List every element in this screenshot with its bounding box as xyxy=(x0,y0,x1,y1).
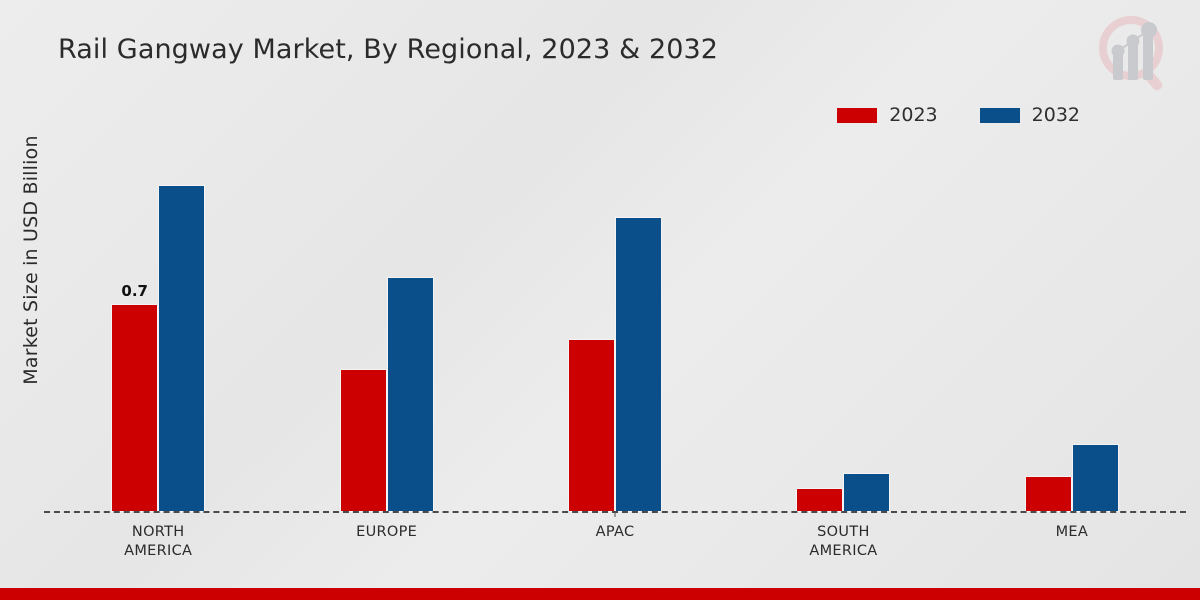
bar-pair xyxy=(1025,140,1119,512)
bar-2023[interactable] xyxy=(568,339,615,512)
legend-swatch-2023 xyxy=(837,108,877,123)
brand-watermark-logo xyxy=(1086,8,1182,100)
bar-group xyxy=(958,140,1186,512)
chart-plot-area: 0.7 xyxy=(44,140,1186,512)
bar-2023[interactable] xyxy=(340,369,387,512)
bar-group xyxy=(729,140,957,512)
x-tick-label-line: EUROPE xyxy=(272,523,500,542)
bar-value-label: 0.7 xyxy=(121,282,148,300)
bar-column xyxy=(615,140,662,512)
footer-accent-bar xyxy=(0,588,1200,600)
bar-2032[interactable] xyxy=(843,473,890,512)
legend-swatch-2032 xyxy=(980,108,1020,123)
chart-figure: Rail Gangway Market, By Regional, 2023 &… xyxy=(0,0,1200,600)
bar-2032[interactable] xyxy=(615,217,662,512)
x-tick-label: APAC xyxy=(501,516,729,580)
x-tick-label-line: AMERICA xyxy=(729,542,957,561)
x-tick-label-line: MEA xyxy=(958,523,1186,542)
chart-title: Rail Gangway Market, By Regional, 2023 &… xyxy=(58,34,718,65)
magnifier-bar-chart-icon xyxy=(1086,8,1182,100)
bar-column xyxy=(568,140,615,512)
x-tick-label-line: NORTH xyxy=(44,523,272,542)
x-tick-label-line: SOUTH xyxy=(729,523,957,542)
x-tick-mark xyxy=(615,512,616,517)
bar-column xyxy=(843,140,890,512)
bar-column xyxy=(1072,140,1119,512)
bar-column xyxy=(387,140,434,512)
bar-pair xyxy=(796,140,890,512)
x-tick-label-line: AMERICA xyxy=(44,542,272,561)
bar-pair xyxy=(568,140,662,512)
y-axis-title: Market Size in USD Billion xyxy=(14,0,48,560)
bar-pair: 0.7 xyxy=(111,140,205,512)
bar-group: 0.7 xyxy=(44,140,272,512)
bar-column xyxy=(340,140,387,512)
bar-column xyxy=(796,140,843,512)
bar-column: 0.7 xyxy=(111,140,158,512)
bar-column xyxy=(1025,140,1072,512)
bar-2023[interactable] xyxy=(1025,476,1072,512)
bar-2032[interactable] xyxy=(158,185,205,512)
bar-pair xyxy=(340,140,434,512)
bar-column xyxy=(158,140,205,512)
bar-2023[interactable] xyxy=(111,304,158,512)
legend-item-2023[interactable]: 2023 xyxy=(837,104,937,126)
x-tick-label: NORTHAMERICA xyxy=(44,516,272,580)
bar-2032[interactable] xyxy=(1072,444,1119,512)
chart-legend: 2023 2032 xyxy=(837,104,1080,126)
x-tick-label: EUROPE xyxy=(272,516,500,580)
legend-label-2032: 2032 xyxy=(1032,104,1080,126)
bar-group xyxy=(501,140,729,512)
x-tick-label: MEA xyxy=(958,516,1186,580)
bar-2032[interactable] xyxy=(387,277,434,512)
x-axis-tick-labels: NORTHAMERICAEUROPEAPACSOUTHAMERICAMEA xyxy=(44,516,1186,580)
x-tick-label-line: APAC xyxy=(501,523,729,542)
x-tick-label: SOUTHAMERICA xyxy=(729,516,957,580)
bar-group xyxy=(272,140,500,512)
legend-label-2023: 2023 xyxy=(889,104,937,126)
bar-2023[interactable] xyxy=(796,488,843,512)
legend-item-2032[interactable]: 2032 xyxy=(980,104,1080,126)
